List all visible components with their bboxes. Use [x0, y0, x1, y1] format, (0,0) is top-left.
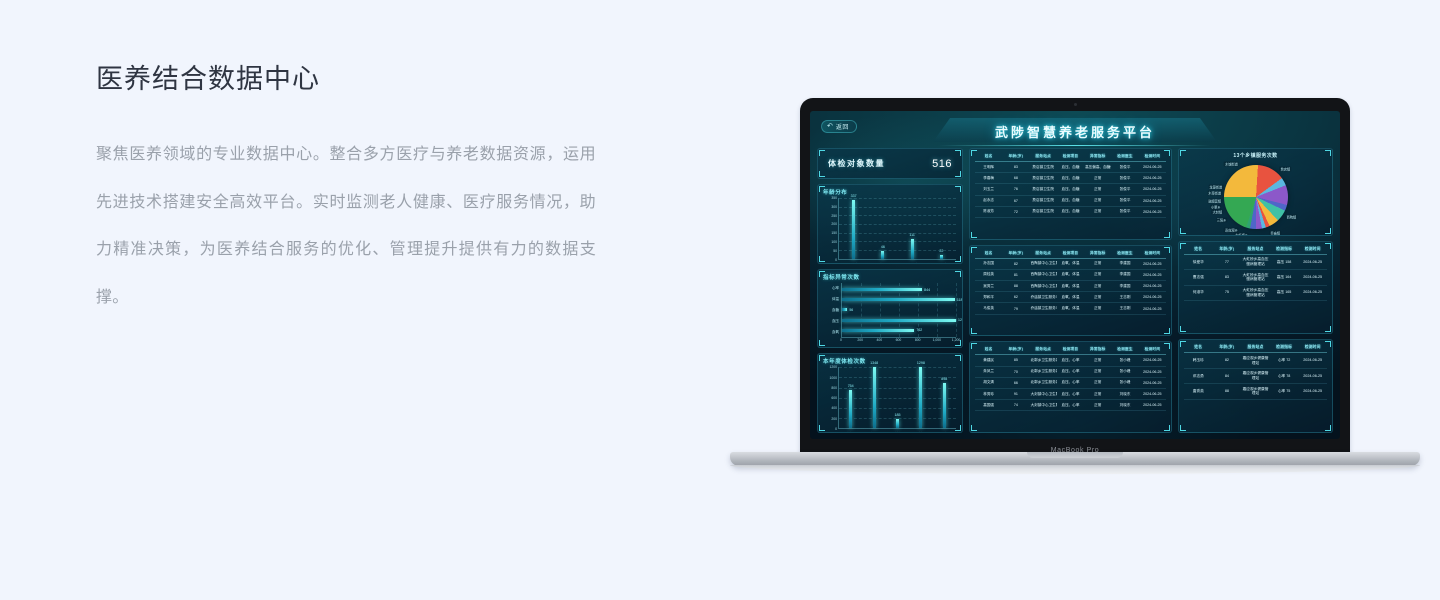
table-cell: 2024-06-25: [1298, 353, 1327, 368]
laptop-base: [730, 452, 1420, 466]
table-cell: 北郭乡卫生服务站: [1030, 355, 1057, 366]
bar-row[interactable]: 762: [842, 329, 956, 332]
table-header-cell: 检测项目: [1057, 152, 1084, 162]
y-tick-label: 200: [831, 222, 837, 226]
dashboard-right-column: 13个乡镇服务次数 詹店镇西陶镇乔庙镇北郭乡大虹桥乡嘉应观乡三阳乡大封镇小董乡谢…: [1178, 148, 1333, 433]
table-cell: 王志刚: [1111, 292, 1138, 303]
table-row[interactable]: 黄建民85北郭乡卫生服务站血压、心率正常张小峰2024-06-25: [975, 355, 1166, 366]
table-header-cell: 检测指标: [1270, 245, 1299, 255]
table-cell: 83: [1002, 162, 1029, 173]
y-tick-label: 体温: [832, 297, 839, 302]
table-cell: 血压、血糖: [1057, 195, 1084, 206]
chart-title-age-distribution: 年龄分布: [818, 185, 962, 196]
table-cell: 张俊平: [1111, 206, 1138, 217]
y-tick-label: 0: [835, 427, 837, 431]
y-tick-label: 1200: [829, 365, 837, 369]
table-cell: 血压、血糖: [1057, 206, 1084, 217]
table-cell: 血氧、体温: [1057, 281, 1084, 292]
pie-slice-label: 大封镇: [1212, 209, 1224, 214]
table-cell: 2024-06-25: [1139, 184, 1166, 195]
table-cell: 高压 158: [1270, 254, 1299, 269]
bar[interactable]: 1298: [919, 367, 922, 428]
y-axis: 心率体温血糖血压血氧: [824, 283, 841, 339]
x-tick-label: 60-79岁: [846, 262, 858, 264]
table-cell: 2024-06-25: [1139, 400, 1166, 411]
table-cell: 西陶镇中心卫生院: [1030, 258, 1057, 269]
y-tick-label: 50: [833, 249, 837, 253]
table-cell: 曹志强: [1184, 270, 1213, 285]
x-tick-label: 0: [840, 338, 842, 342]
table-header-cell: 检测指标: [1270, 343, 1299, 353]
table-cell: 心率 78: [1270, 368, 1299, 383]
table-cell: 2024-06-25: [1139, 355, 1166, 366]
table-cell: 高压 164: [1270, 270, 1299, 285]
table-row-group: 姓名年龄(岁)服务站点检测项目异常指标检测医生检测时间王明辉83詹店镇卫生院血压…: [975, 152, 1166, 218]
y-tick-label: 400: [831, 406, 837, 410]
x-tick-label: 60岁以下: [875, 262, 889, 264]
table-row[interactable]: 徐爱华77大虹桥乡高血压慢病管理站高压 1582024-06-25: [1184, 254, 1327, 269]
table-cell: 76: [1002, 184, 1029, 195]
table-cell: 詹店镇卫生院: [1030, 206, 1057, 217]
y-tick-label: 800: [831, 386, 837, 390]
table-cell: 2024-06-25: [1139, 206, 1166, 217]
y-tick-label: 350: [831, 196, 837, 200]
table-row-group: 姓名年龄(岁)服务站点检测指标检测时间徐爱华77大虹桥乡高血压慢病管理站高压 1…: [1184, 245, 1327, 301]
pie-slice-label: 龙源街道: [1208, 184, 1223, 189]
table-cell: 正常: [1084, 281, 1111, 292]
table-cell: 高压 165: [1270, 285, 1299, 300]
table-cell: 北郭乡卫生服务站: [1030, 377, 1057, 388]
chart-plot-age-distribution: 050100150200250300350337461112260-79岁60岁…: [824, 198, 956, 260]
table-cell: 2024-06-25: [1298, 270, 1327, 285]
page-title: 医养结合数据中心: [96, 62, 596, 97]
table-header-cell: 检测时间: [1298, 245, 1327, 255]
table-row[interactable]: 何淑华75大虹桥乡高血压慢病管理站高压 1652024-06-25: [1184, 285, 1327, 300]
table-cell: 大封镇中心卫生院: [1030, 388, 1057, 399]
x-tick-label: 600: [896, 338, 902, 342]
plot-area: 3374611122: [838, 198, 956, 260]
chart-plot-abnormal-indicators: 心率体温血糖血压血氧844118856121976202004006008001…: [824, 283, 956, 345]
table-cell: 74: [1002, 400, 1029, 411]
table-row[interactable]: 高国强74大封镇中心卫生院血压、心率正常刘晓东2024-06-25: [975, 400, 1166, 411]
table-cell: 66: [1002, 377, 1029, 388]
chart-annual-exams[interactable]: 本年度体检次数 02004006008001000120075413481851…: [817, 353, 963, 433]
table-cell: 血压、血糖: [1057, 173, 1084, 184]
table-cell: 吴秀兰: [975, 281, 1002, 292]
table-cell: 88: [1213, 384, 1242, 399]
bar-value-label: 1348: [870, 361, 878, 365]
bar[interactable]: [842, 298, 955, 301]
table-cell: 高国强: [975, 400, 1002, 411]
table-header-cell: 检测时间: [1139, 152, 1166, 162]
table-header-row: 姓名年龄(岁)服务站点检测指标检测时间: [1184, 343, 1327, 353]
table-cell: 2024-06-25: [1298, 368, 1327, 383]
dashboard-title-banner: 武陟智慧养老服务平台: [925, 116, 1225, 146]
table-cell: 血压、血糖: [1057, 162, 1084, 173]
bar-row[interactable]: 1219: [842, 319, 956, 322]
table-header-cell: 服务站点: [1030, 345, 1057, 355]
table-row[interactable]: 胡文清66北郭乡卫生服务站血压、心率正常张小峰2024-06-25: [975, 377, 1166, 388]
bar[interactable]: 754: [849, 390, 852, 428]
y-axis: 020040060080010001200: [824, 367, 838, 429]
table-header-cell: 服务站点: [1241, 245, 1270, 255]
chart-title-annual-exams: 本年度体检次数: [818, 354, 962, 365]
table-cell: 马俊英: [975, 303, 1002, 314]
indicator-alert-table-2[interactable]: 姓名年龄(岁)服务站点检测指标检测时间韩玉珍82嘉应观乡健康管理站心率 7220…: [1178, 339, 1333, 433]
bar[interactable]: 46: [881, 251, 884, 259]
x-tick-label: 1,000: [933, 338, 942, 342]
table-cell: 心率 75: [1270, 384, 1299, 399]
x-tick-label: 80-89岁: [906, 262, 918, 264]
table-cell: 正常: [1084, 269, 1111, 280]
table-cell: 正常: [1084, 366, 1111, 377]
bar-value-label: 22: [939, 249, 943, 253]
table-row-group: 姓名年龄(岁)服务站点检测指标检测时间韩玉珍82嘉应观乡健康管理站心率 7220…: [1184, 343, 1327, 399]
table-header-cell: 检测时间: [1139, 345, 1166, 355]
chart-plot-annual-exams: 02004006008001000120075413481851298898血氧…: [824, 367, 956, 429]
x-tick-label: 200: [857, 338, 863, 342]
dashboard-header: ↶ 返回 武陟智慧养老服务平台: [817, 116, 1333, 148]
y-tick-label: 0: [835, 258, 837, 262]
table-cell: 胡文清: [975, 377, 1002, 388]
kpi-value: 516: [932, 158, 952, 170]
x-axis: 血氧血压血糖体温心率: [838, 431, 956, 433]
x-axis: 02004006008001,0001,200: [841, 338, 956, 344]
table-row-group: 姓名年龄(岁)服务站点检测项目异常指标检测医生检测时间黄建民85北郭乡卫生服务站…: [975, 345, 1166, 411]
table-cell: 82: [1213, 353, 1242, 368]
table-cell: 正常: [1084, 400, 1111, 411]
table-cell: 正常: [1084, 388, 1111, 399]
table-cell: 徐爱华: [1184, 254, 1213, 269]
pie-slice-label: 西陶镇: [1286, 214, 1298, 219]
table-row[interactable]: 韩玉珍82嘉应观乡健康管理站心率 722024-06-25: [1184, 353, 1327, 368]
dashboard-body: 体检对象数量 516 年龄分布 050100150200250300350337…: [817, 148, 1333, 433]
y-axis: 050100150200250300350: [824, 198, 838, 260]
pie-slice-label: 木栾街道: [1207, 190, 1222, 195]
table-cell: 血压、心率: [1057, 377, 1084, 388]
table-cell: 刘晓东: [1111, 400, 1138, 411]
table-cell: 詹店镇卫生院: [1030, 173, 1057, 184]
table-cell: 81: [1002, 269, 1029, 280]
dashboard-center-column: 姓名年龄(岁)服务站点检测项目异常指标检测医生检测时间王明辉83詹店镇卫生院血压…: [969, 148, 1172, 433]
table-cell: 詹店镇卫生院: [1030, 162, 1057, 173]
table-cell: 2024-06-25: [1139, 195, 1166, 206]
table-cell: 张小峰: [1111, 366, 1138, 377]
x-tick-label: 血压: [870, 431, 877, 433]
table-header-cell: 年龄(岁): [1002, 249, 1029, 259]
horizontal-bar-chart: 心率体温血糖血压血氧844118856121976202004006008001…: [824, 283, 956, 345]
pie-slice-label: 谢旗营镇: [1207, 198, 1222, 203]
table-cell: 67: [1002, 195, 1029, 206]
table-cell: 血压、心率: [1057, 388, 1084, 399]
laptop-screen: ↶ 返回 武陟智慧养老服务平台 体检对象数量 516: [810, 111, 1340, 439]
table-cell: 西陶镇中心卫生院: [1030, 269, 1057, 280]
bar-value-label: 844: [924, 288, 930, 292]
bar[interactable]: [842, 308, 847, 311]
table-cell: 正常: [1084, 292, 1111, 303]
y-tick-label: 150: [831, 231, 837, 235]
bar-value-label: 1188: [957, 298, 963, 302]
table-row[interactable]: 刘玉兰76詹店镇卫生院血压、血糖正常张俊平2024-06-25: [975, 184, 1166, 195]
table-header-cell: 服务站点: [1030, 152, 1057, 162]
table-header-cell: 年龄(岁): [1213, 343, 1242, 353]
bar[interactable]: 898: [943, 383, 946, 428]
y-tick-label: 心率: [832, 286, 839, 291]
table-cell: 嘉应观乡健康管理站: [1241, 384, 1270, 399]
table-cell: 詹店镇卫生院: [1030, 184, 1057, 195]
pie-slice-label: 嘉应观乡: [1224, 228, 1239, 233]
bar[interactable]: [842, 329, 914, 332]
chart-village-distribution[interactable]: 13个乡镇服务次数 詹店镇西陶镇乔庙镇北郭乡大虹桥乡嘉应观乡三阳乡大封镇小董乡谢…: [1178, 148, 1333, 236]
plot-area: 8441188561219762: [841, 283, 956, 339]
table-cell: 83: [1213, 270, 1242, 285]
y-tick-label: 血糖: [832, 308, 839, 313]
table-header-row: 姓名年龄(岁)服务站点检测项目异常指标检测医生检测时间: [975, 345, 1166, 355]
table-row[interactable]: 王明辉83詹店镇卫生院血压、血糖高压偏高、血糖偏高张俊平2024-06-25: [975, 162, 1166, 173]
bar-row[interactable]: 56: [842, 308, 956, 311]
table-cell: 70: [1002, 366, 1029, 377]
dashboard-title: 武陟智慧养老服务平台: [995, 122, 1155, 141]
x-tick-label: 400: [876, 338, 882, 342]
x-tick-label: 体温: [917, 431, 924, 433]
chart-plot-village-distribution: 詹店镇西陶镇乔庙镇北郭乡大虹桥乡嘉应观乡三阳乡大封镇小董乡谢旗营镇木栾街道龙源街…: [1179, 159, 1332, 235]
table-header-cell: 年龄(岁): [1213, 245, 1242, 255]
table-cell: 詹店镇卫生院: [1030, 195, 1057, 206]
bar-value-label: 185: [894, 413, 900, 417]
table-header-cell: 姓名: [1184, 343, 1213, 353]
table-cell: 2024-06-25: [1139, 162, 1166, 173]
table-cell: 72: [1002, 206, 1029, 217]
table-row[interactable]: 唐秀英88嘉应观乡健康管理站心率 752024-06-25: [1184, 384, 1327, 399]
table-cell: 2024-06-25: [1139, 388, 1166, 399]
bar[interactable]: [842, 288, 922, 291]
table-cell: 血氧、体温: [1057, 303, 1084, 314]
table-cell: 正常: [1084, 195, 1111, 206]
laptop-foot: [730, 465, 1420, 474]
y-tick-label: 300: [831, 205, 837, 209]
pie-slice-label: 小董乡: [1210, 205, 1222, 210]
y-tick-label: 200: [831, 417, 837, 421]
exam-records-table-2[interactable]: 姓名年龄(岁)服务站点检测项目异常指标检测医生检测时间孙志国82西陶镇中心卫生院…: [969, 245, 1172, 337]
table-cell: 李建国: [1111, 281, 1138, 292]
table-header-cell: 检测项目: [1057, 345, 1084, 355]
table-cell: 血氧、体温: [1057, 258, 1084, 269]
bar-value-label: 754: [848, 384, 854, 388]
table-cell: 黄建民: [975, 355, 1002, 366]
table-cell: 2024-06-25: [1139, 281, 1166, 292]
table-row[interactable]: 邓志勇84嘉应观乡健康管理站心率 782024-06-25: [1184, 368, 1327, 383]
x-axis: 60-79岁60岁以下80-89岁90-99岁: [838, 262, 956, 264]
back-button-label: 返回: [836, 122, 849, 131]
table-cell: 85: [1002, 355, 1029, 366]
table-header-cell: 异常指标: [1084, 249, 1111, 259]
table-cell: 张小峰: [1111, 377, 1138, 388]
table-header-cell: 年龄(岁): [1002, 345, 1029, 355]
laptop-lid: MacBook Pro ↶ 返回 武陟智慧养老服务平台: [800, 98, 1350, 458]
pie-slices: [1224, 165, 1288, 229]
table-header-cell: 服务站点: [1241, 343, 1270, 353]
table-cell: 李建国: [1111, 269, 1138, 280]
table-row[interactable]: 林秀珍91大封镇中心卫生院血压、心率正常刘晓东2024-06-25: [975, 388, 1166, 399]
table-cell: 大虹桥乡高血压慢病管理站: [1241, 254, 1270, 269]
bar[interactable]: 1348: [873, 367, 876, 428]
x-tick-label: 血糖: [894, 431, 901, 433]
laptop-mockup: MacBook Pro ↶ 返回 武陟智慧养老服务平台: [730, 98, 1420, 488]
bar[interactable]: 111: [911, 239, 914, 258]
y-tick-label: 600: [831, 396, 837, 400]
table-cell: 何淑华: [1184, 285, 1213, 300]
table-row[interactable]: 孙志国82西陶镇中心卫生院血氧、体温正常李建国2024-06-25: [975, 258, 1166, 269]
x-tick-label: 800: [915, 338, 921, 342]
table-cell: 2024-06-25: [1298, 254, 1327, 269]
y-tick-label: 250: [831, 214, 837, 218]
table-cell: 2024-06-25: [1139, 173, 1166, 184]
table-row[interactable]: 陈淑芳72詹店镇卫生院血压、血糖正常张俊平2024-06-25: [975, 206, 1166, 217]
table-cell: 韩玉珍: [1184, 353, 1213, 368]
y-tick-label: 100: [831, 240, 837, 244]
chart-title-village-distribution: 13个乡镇服务次数: [1179, 149, 1332, 159]
table-header-cell: 检测医生: [1111, 345, 1138, 355]
bar-value-label: 337: [851, 194, 857, 198]
y-tick-label: 血氧: [832, 330, 839, 335]
x-tick-label: 1,200: [952, 338, 961, 342]
table-cell: 正常: [1084, 173, 1111, 184]
bar-value-label: 762: [916, 328, 922, 332]
x-tick-label: 心率: [941, 431, 948, 433]
y-tick-label: 1000: [829, 376, 837, 380]
bar-value-label: 1298: [917, 361, 925, 365]
table-cell: 正常: [1084, 206, 1111, 217]
table-header-cell: 检测医生: [1111, 152, 1138, 162]
table-cell: 周桂英: [975, 269, 1002, 280]
table-cell: 2024-06-25: [1139, 377, 1166, 388]
exam-records-table-3[interactable]: 姓名年龄(岁)服务站点检测项目异常指标检测医生检测时间黄建民85北郭乡卫生服务站…: [969, 341, 1172, 433]
table-cell: 张俊平: [1111, 195, 1138, 206]
pie-slice-label: 三阳乡: [1216, 217, 1228, 222]
bar[interactable]: 185: [896, 419, 899, 428]
table-cell: 68: [1002, 173, 1029, 184]
table-cell: 刘晓东: [1111, 388, 1138, 399]
table-cell: 91: [1002, 388, 1029, 399]
table-cell: 血压、心率: [1057, 355, 1084, 366]
table-cell: 李春梅: [975, 173, 1002, 184]
table-cell: 嘉应观乡健康管理站: [1241, 353, 1270, 368]
pie-slice-label: 乔庙镇: [1269, 230, 1281, 235]
table-cell: 张俊平: [1111, 173, 1138, 184]
bar-value-label: 111: [909, 233, 914, 237]
table-cell: 朱凤兰: [975, 366, 1002, 377]
table-cell: 李建国: [1111, 258, 1138, 269]
vertical-bar-chart: 02004006008001000120075413481851298898血氧…: [824, 367, 956, 429]
bar-row[interactable]: 1188: [842, 298, 956, 301]
table-header-row: 姓名年龄(岁)服务站点检测项目异常指标检测医生检测时间: [975, 249, 1166, 259]
table-cell: 2024-06-25: [1139, 303, 1166, 314]
dashboard: ↶ 返回 武陟智慧养老服务平台 体检对象数量 516: [810, 111, 1340, 439]
table-cell: 血压、血糖: [1057, 184, 1084, 195]
table-cell: 张俊平: [1111, 184, 1138, 195]
chart-abnormal-indicators[interactable]: 指标异常次数 心率体温血糖血压血氧84411885612197620200400…: [817, 269, 963, 349]
table-cell: 张俊平: [1111, 162, 1138, 173]
table-header-cell: 姓名: [975, 345, 1002, 355]
table-cell: 正常: [1084, 355, 1111, 366]
table-header-cell: 异常指标: [1084, 345, 1111, 355]
pie-slice-label: 大虹桥乡: [1234, 233, 1249, 236]
table-row[interactable]: 吴秀兰88西陶镇中心卫生院血氧、体温正常李建国2024-06-25: [975, 281, 1166, 292]
back-button[interactable]: ↶ 返回: [821, 120, 857, 133]
vertical-bar-chart: 050100150200250300350337461112260-79岁60岁…: [824, 198, 956, 260]
table-row-group: 姓名年龄(岁)服务站点检测项目异常指标检测医生检测时间孙志国82西陶镇中心卫生院…: [975, 249, 1166, 315]
bar[interactable]: 337: [852, 200, 855, 258]
table-cell: 大虹桥乡高血压慢病管理站: [1241, 285, 1270, 300]
intro-copy-block: 医养结合数据中心 聚焦医养领域的专业数据中心。整合多方医疗与养老数据资源，运用先…: [96, 62, 596, 322]
table-cell: 林秀珍: [975, 388, 1002, 399]
table-header-cell: 服务站点: [1030, 249, 1057, 259]
table-cell: 张小峰: [1111, 355, 1138, 366]
chart-age-distribution[interactable]: 年龄分布 050100150200250300350337461112260-7…: [817, 184, 963, 264]
table-cell: 正常: [1084, 184, 1111, 195]
webcam-icon: [1074, 103, 1077, 106]
y-tick-label: 血压: [832, 319, 839, 324]
table-header-cell: 姓名: [975, 152, 1002, 162]
indicator-alert-table-1[interactable]: 姓名年龄(岁)服务站点检测指标检测时间徐爱华77大虹桥乡高血压慢病管理站高压 1…: [1178, 241, 1333, 335]
table-cell: 2024-06-25: [1139, 258, 1166, 269]
table-header-cell: 年龄(岁): [1002, 152, 1029, 162]
table-cell: 77: [1213, 254, 1242, 269]
table-cell: 血压、心率: [1057, 400, 1084, 411]
bar-value-label: 56: [849, 308, 853, 312]
plot-area: 75413481851298898: [838, 367, 956, 429]
table-cell: 82: [1002, 258, 1029, 269]
table-cell: 血氧、体温: [1057, 292, 1084, 303]
table-cell: 王明辉: [975, 162, 1002, 173]
table-cell: 高压偏高、血糖偏高: [1084, 162, 1111, 173]
table-cell: 正常: [1084, 377, 1111, 388]
table-header-row: 姓名年龄(岁)服务站点检测项目异常指标检测医生检测时间: [975, 152, 1166, 162]
table-cell: 西陶镇中心卫生院: [1030, 281, 1057, 292]
table-header-cell: 检测项目: [1057, 249, 1084, 259]
table-row[interactable]: 周桂英81西陶镇中心卫生院血氧、体温正常李建国2024-06-25: [975, 269, 1166, 280]
table-cell: 嘉应观乡健康管理站: [1241, 368, 1270, 383]
table-row[interactable]: 曹志强83大虹桥乡高血压慢病管理站高压 1642024-06-25: [1184, 270, 1327, 285]
pie-slice-label: 木城街道: [1224, 161, 1239, 166]
table-row[interactable]: 朱凤兰70北郭乡卫生服务站血压、心率正常张小峰2024-06-25: [975, 366, 1166, 377]
table-header-row: 姓名年龄(岁)服务站点检测指标检测时间: [1184, 245, 1327, 255]
exam-records-table-1[interactable]: 姓名年龄(岁)服务站点检测项目异常指标检测医生检测时间王明辉83詹店镇卫生院血压…: [969, 148, 1172, 240]
table-cell: 2024-06-25: [1298, 384, 1327, 399]
table-cell: 大虹桥乡高血压慢病管理站: [1241, 270, 1270, 285]
dashboard-left-column: 体检对象数量 516 年龄分布 050100150200250300350337…: [817, 148, 963, 433]
table-header-cell: 检测医生: [1111, 249, 1138, 259]
table-row[interactable]: 郑和平62乔庙镇卫生服务中心血氧、体温正常王志刚2024-06-25: [975, 292, 1166, 303]
bar-row[interactable]: 844: [842, 288, 956, 291]
bar[interactable]: [842, 319, 956, 322]
table-row[interactable]: 赵永志67詹店镇卫生院血压、血糖正常张俊平2024-06-25: [975, 195, 1166, 206]
kpi-card-exam-subjects: 体检对象数量 516: [817, 148, 963, 179]
table-cell: 2024-06-25: [1139, 292, 1166, 303]
bar-value-label: 1219: [958, 318, 963, 322]
table-cell: 赵永志: [975, 195, 1002, 206]
table-cell: 正常: [1084, 258, 1111, 269]
bar[interactable]: 22: [940, 255, 943, 259]
table-cell: 正常: [1084, 303, 1111, 314]
table-cell: 79: [1002, 303, 1029, 314]
table-header-cell: 姓名: [1184, 245, 1213, 255]
chart-title-abnormal-indicators: 指标异常次数: [818, 270, 962, 281]
page-description: 聚焦医养领域的专业数据中心。整合多方医疗与养老数据资源，运用先进技术搭建安全高效…: [96, 131, 596, 322]
bar-value-label: 46: [881, 245, 885, 249]
table-row[interactable]: 李春梅68詹店镇卫生院血压、血糖正常张俊平2024-06-25: [975, 173, 1166, 184]
table-row[interactable]: 马俊英79乔庙镇卫生服务中心血氧、体温正常王志刚2024-06-25: [975, 303, 1166, 314]
